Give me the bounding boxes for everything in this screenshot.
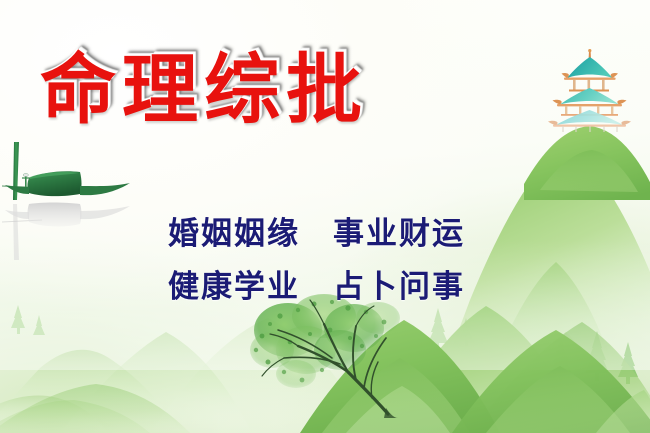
boat-bow	[80, 183, 130, 195]
page-title: 命理综批	[40, 52, 440, 128]
far-mountain-left-c	[0, 396, 108, 433]
mid-mountain-left	[0, 384, 190, 433]
subtitle-line-1: 婚姻姻缘 事业财运	[168, 208, 465, 261]
far-mountain-left-a	[0, 350, 182, 433]
subtitle-block: 婚姻姻缘 事业财运 健康学业 占卜问事	[168, 208, 465, 315]
mid-mountain-a	[386, 306, 586, 433]
title-block: 命理综批	[40, 52, 440, 128]
pagoda-hill	[524, 126, 650, 200]
pagoda-illustration	[536, 48, 642, 132]
foreground-hill-right	[452, 330, 650, 433]
pagoda-roof-top	[567, 57, 613, 78]
pagoda-svg	[536, 48, 642, 132]
tree-trunk	[384, 408, 398, 418]
boat-svg	[2, 142, 152, 262]
foreground-hill-left	[0, 400, 150, 433]
boat-illustration	[2, 142, 152, 262]
far-mountain-right-inner	[470, 262, 634, 433]
subtitle-line-2: 健康学业 占卜问事	[168, 261, 465, 314]
pagoda-hill-shade	[540, 150, 638, 192]
boat-bow-reflection	[80, 206, 130, 219]
poster-canvas: 命理综批 婚姻姻缘 事业财运 健康学业 占卜问事	[0, 0, 650, 433]
far-mountain-right-inner2	[500, 332, 620, 433]
foreground-hill-right-small	[596, 390, 650, 433]
pine-silhouettes-far-left	[11, 305, 45, 335]
mid-mountain-b	[470, 322, 650, 433]
pagoda-pillars-bottom	[562, 126, 618, 132]
pagoda-roof-mid	[560, 88, 619, 105]
foreground-hill-right-shade	[486, 366, 630, 433]
pine-silhouettes	[525, 331, 638, 384]
boat-hull-reflection	[28, 203, 82, 227]
far-mountain-left-b	[60, 332, 252, 433]
